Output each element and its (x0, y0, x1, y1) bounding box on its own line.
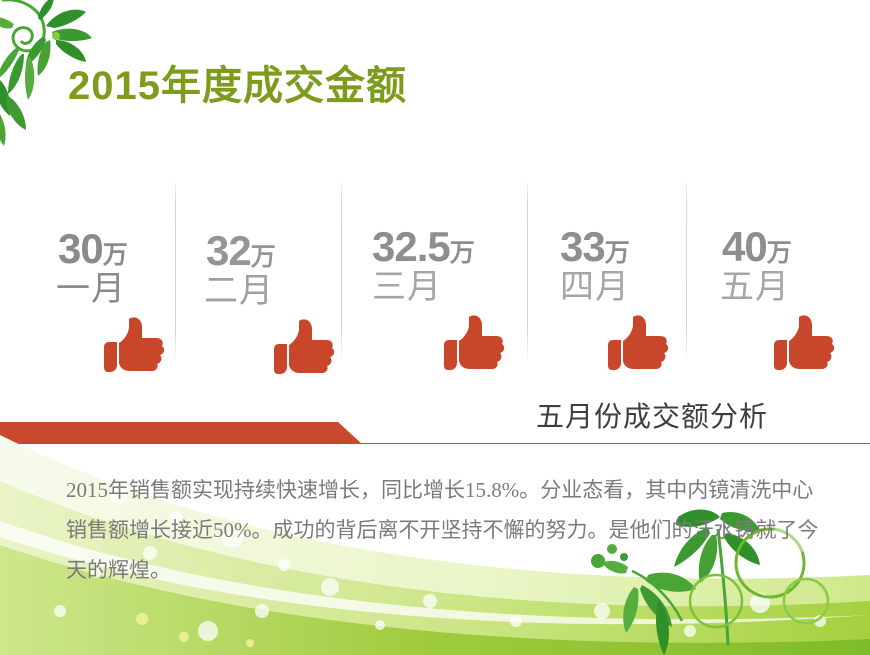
thumbs-up-icon (608, 314, 670, 372)
stat-card-month-2: 32万 二月 (200, 178, 341, 373)
stat-divider (686, 178, 687, 363)
stat-divider (341, 178, 342, 363)
stat-card-month-4: 33万 四月 (556, 178, 686, 373)
stat-divider (175, 178, 176, 363)
section-title: 五月份成交额分析 (536, 403, 768, 431)
stat-card-month-3: 32.5万 三月 (368, 178, 527, 373)
stat-amount: 40万 (722, 226, 792, 268)
stat-divider (527, 178, 528, 363)
banner-rule (350, 443, 870, 444)
stats-row: 30万 一月 32万 二月 (0, 178, 870, 373)
stat-month-label: 二月 (204, 274, 274, 308)
stat-card-month-1: 30万 一月 (52, 178, 175, 373)
slide-canvas: 2015年度成交金额 30万 一月 32万 二月 (0, 0, 870, 655)
stat-amount: 32万 (206, 230, 276, 272)
thumbs-up-icon (444, 314, 506, 372)
stat-month-label: 一月 (56, 272, 126, 306)
stat-month-label: 三月 (372, 270, 442, 304)
stat-amount: 33万 (560, 226, 630, 268)
stat-amount: 32.5万 (372, 226, 475, 268)
thumbs-up-icon (774, 314, 836, 372)
stat-month-label: 四月 (560, 270, 630, 304)
stat-month-label: 五月 (720, 270, 790, 304)
thumbs-up-icon (274, 318, 336, 376)
stat-amount: 30万 (58, 228, 128, 270)
banner-bar (0, 422, 362, 444)
thumbs-up-icon (104, 316, 166, 374)
stat-card-month-5: 40万 五月 (716, 178, 856, 373)
page-title: 2015年度成交金额 (68, 66, 407, 106)
body-paragraph: 2015年销售额实现持续快速增长，同比增长15.8%。分业态看，其中内镜清洗中心… (66, 470, 826, 590)
